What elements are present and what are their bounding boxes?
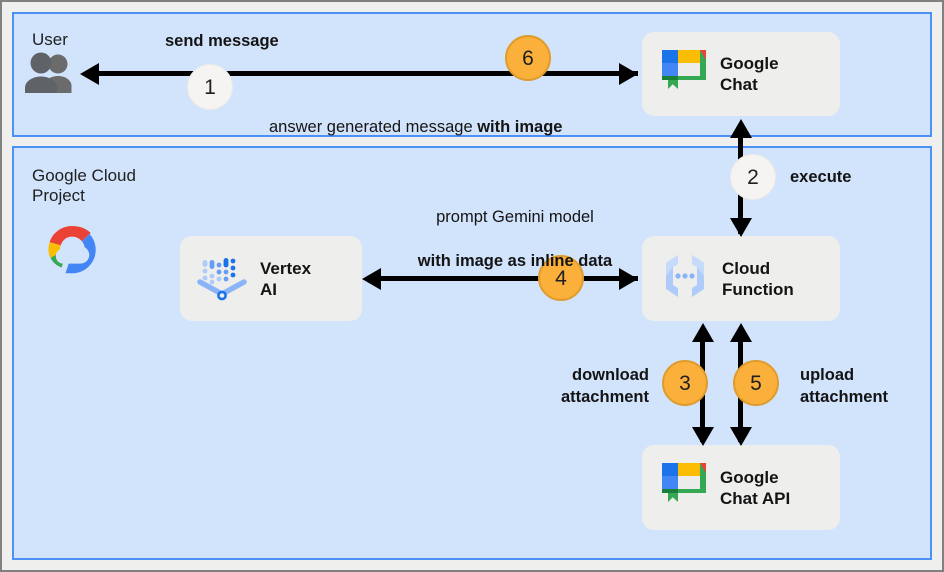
edge-label-prompt-regular: prompt Gemini model (415, 206, 615, 228)
vertex-ai-icon (196, 249, 250, 308)
node-vertex-ai-label: Vertex AI (260, 258, 311, 300)
panel-user-title: User (32, 30, 68, 50)
step-badge-3-number: 3 (679, 373, 691, 394)
node-cloud-function-label: Cloud Function (722, 258, 794, 300)
arrow-head-download-down (692, 427, 714, 446)
edge-label-upload-attachment: upload attachment (800, 364, 888, 408)
google-chat-icon (658, 46, 710, 103)
step-badge-3: 3 (662, 360, 708, 406)
arrow-head-upload-down (730, 427, 752, 446)
edge-label-answer-bold: with image (477, 118, 562, 136)
edge-label-prompt-gemini: prompt Gemini model with image as inline… (415, 184, 615, 294)
diagram-canvas: User Google Cloud Project (0, 0, 944, 572)
arrow-head-download-up (692, 323, 714, 342)
arrow-head-to-google-chat-up (730, 119, 752, 138)
step-badge-1: 1 (187, 64, 233, 110)
node-google-chat-api-label: Google Chat API (720, 467, 790, 509)
arrow-line-user-chat (98, 71, 638, 76)
panel-google-cloud-project-title: Google Cloud Project (32, 166, 136, 206)
google-chat-icon (658, 459, 710, 516)
arrow-head-upload-up (730, 323, 752, 342)
arrow-head-to-cloud-function (619, 268, 638, 290)
cloud-function-icon (658, 249, 712, 308)
step-badge-6-number: 6 (522, 48, 534, 69)
arrow-head-to-google-chat (619, 63, 638, 85)
node-google-chat[interactable]: Google Chat (642, 32, 840, 116)
edge-label-answer-generated-message: answer generated message with image (269, 94, 562, 138)
users-icon (22, 52, 80, 94)
google-cloud-logo-icon (36, 224, 108, 282)
node-google-chat-api[interactable]: Google Chat API (642, 445, 840, 530)
step-badge-2-number: 2 (747, 167, 759, 188)
step-badge-6: 6 (505, 35, 551, 81)
node-cloud-function[interactable]: Cloud Function (642, 236, 840, 321)
step-badge-2: 2 (730, 154, 776, 200)
node-vertex-ai[interactable]: Vertex AI (180, 236, 362, 321)
edge-label-prompt-bold: with image as inline data (415, 250, 615, 272)
node-google-chat-label: Google Chat (720, 53, 779, 95)
edge-label-send-message: send message (165, 30, 279, 52)
edge-label-execute: execute (790, 166, 851, 188)
edge-label-answer-regular: answer generated message (269, 118, 477, 136)
arrow-head-to-cloud-function-down (730, 218, 752, 237)
arrow-head-to-vertex-ai (362, 268, 381, 290)
step-badge-1-number: 1 (204, 77, 216, 98)
step-badge-5: 5 (733, 360, 779, 406)
arrow-head-to-user (80, 63, 99, 85)
step-badge-5-number: 5 (750, 373, 762, 394)
edge-label-download-attachment: download attachment (529, 364, 649, 408)
